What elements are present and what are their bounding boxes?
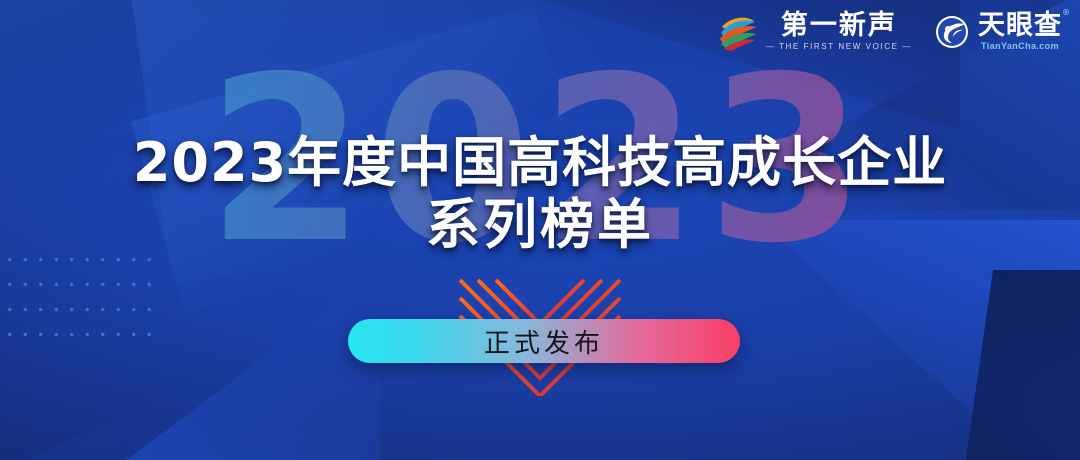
tianyancha-eye-icon (934, 14, 970, 50)
logo-tianyancha-domain: TianYanCha.com (981, 42, 1059, 51)
page-title: 2023年度中国高科技高成长企业 系列榜单 (0, 132, 1080, 256)
header-logos: 第一新声 — THE FIRST NEW VOICE — 天眼查® TianYa… (718, 12, 1062, 51)
logo-tianyancha-name-text: 天眼查 (978, 10, 1062, 41)
title-line-2: 系列榜单 (0, 194, 1080, 256)
logo-first-new-voice-name: 第一新声 (781, 12, 897, 39)
logo-tianyancha-name: 天眼查® (978, 12, 1062, 39)
logo-first-new-voice[interactable]: 第一新声 — THE FIRST NEW VOICE — (718, 12, 912, 51)
trademark-symbol: ® (1062, 9, 1071, 17)
release-status-badge[interactable]: 正式发布 (348, 319, 740, 363)
poster-canvas: 2023 2023年度中国高科技高成长企业 系列榜单 正式发布 (0, 0, 1080, 460)
title-line-1: 2023年度中国高科技高成长企业 (0, 132, 1080, 194)
first-new-voice-swirl-icon (718, 13, 758, 51)
logo-tianyancha[interactable]: 天眼查® TianYanCha.com (934, 12, 1062, 51)
logo-first-new-voice-tagline: — THE FIRST NEW VOICE — (766, 43, 912, 51)
background-facet-bottom-left-2 (0, 340, 260, 460)
background-facet-bottom-right-dark (960, 270, 1080, 460)
release-status-label: 正式发布 (484, 323, 604, 360)
